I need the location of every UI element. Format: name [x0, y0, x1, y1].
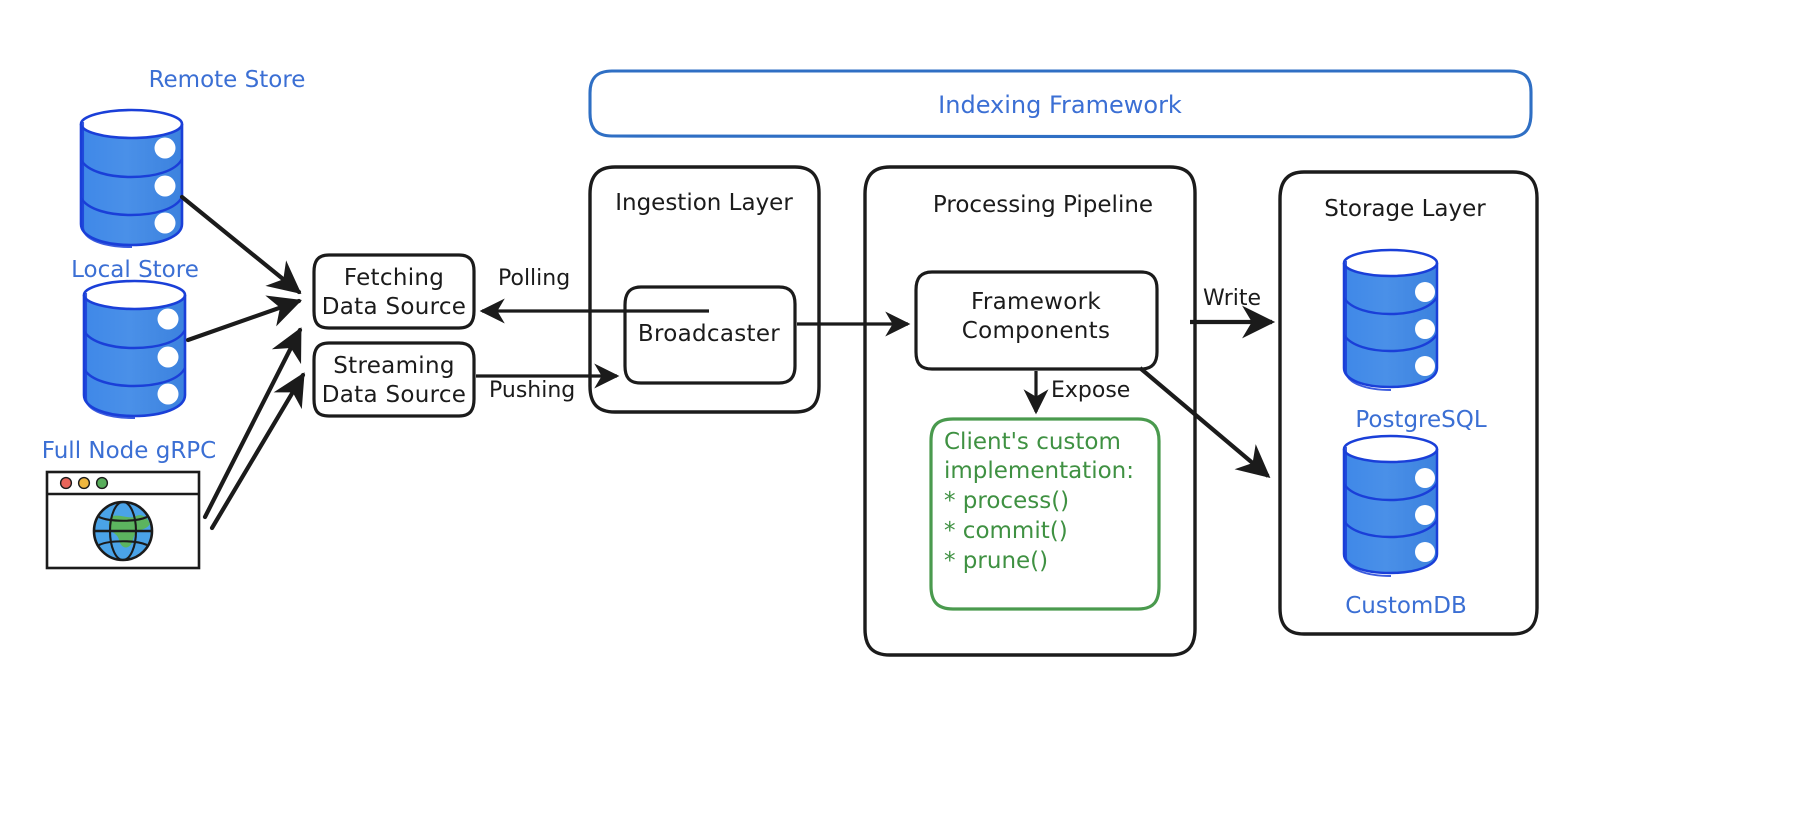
- ingestion-layer-label: Ingestion Layer: [615, 189, 793, 217]
- expose-label: Expose: [1051, 378, 1130, 404]
- streaming-data-source-line1: Streaming: [333, 352, 455, 381]
- framework-components-line1: Framework: [971, 288, 1101, 317]
- full-node-grpc-label: Full Node gRPC: [42, 437, 217, 465]
- custom-impl-heading-line1: Client's custom: [944, 427, 1121, 457]
- polling-label: Polling: [498, 266, 570, 292]
- custom-impl-heading-line2: implementation:: [944, 456, 1134, 486]
- broadcaster-label: Broadcaster: [638, 320, 780, 349]
- postgresql-database-icon: [1344, 250, 1437, 390]
- fetching-data-source-line2: Data Source: [322, 293, 467, 322]
- write-label: Write: [1203, 286, 1261, 312]
- local-store-icon: [84, 281, 185, 418]
- pushing-label: Pushing: [489, 378, 575, 404]
- customdb-label: CustomDB: [1345, 592, 1467, 620]
- custom-impl-method-commit: * commit(): [944, 516, 1068, 546]
- custom-impl-method-prune: * prune(): [944, 546, 1048, 576]
- diagram-canvas: [0, 0, 1796, 818]
- framework-components-line2: Components: [962, 317, 1111, 346]
- customdb-database-icon: [1344, 436, 1437, 576]
- postgresql-label: PostgreSQL: [1355, 406, 1486, 434]
- remote-store-label: Remote Store: [149, 66, 306, 94]
- fetching-data-source-line1: Fetching: [344, 264, 444, 293]
- indexing-framework-label: Indexing Framework: [938, 91, 1182, 119]
- processing-pipeline-label: Processing Pipeline: [933, 191, 1153, 219]
- streaming-data-source-line2: Data Source: [322, 381, 467, 410]
- globe-icon: [94, 502, 152, 560]
- remote-store-icon: [81, 110, 182, 247]
- storage-layer-label: Storage Layer: [1324, 195, 1485, 223]
- custom-impl-method-process: * process(): [944, 486, 1069, 516]
- local-store-label: Local Store: [71, 256, 199, 284]
- browser-globe-icon: [47, 472, 199, 568]
